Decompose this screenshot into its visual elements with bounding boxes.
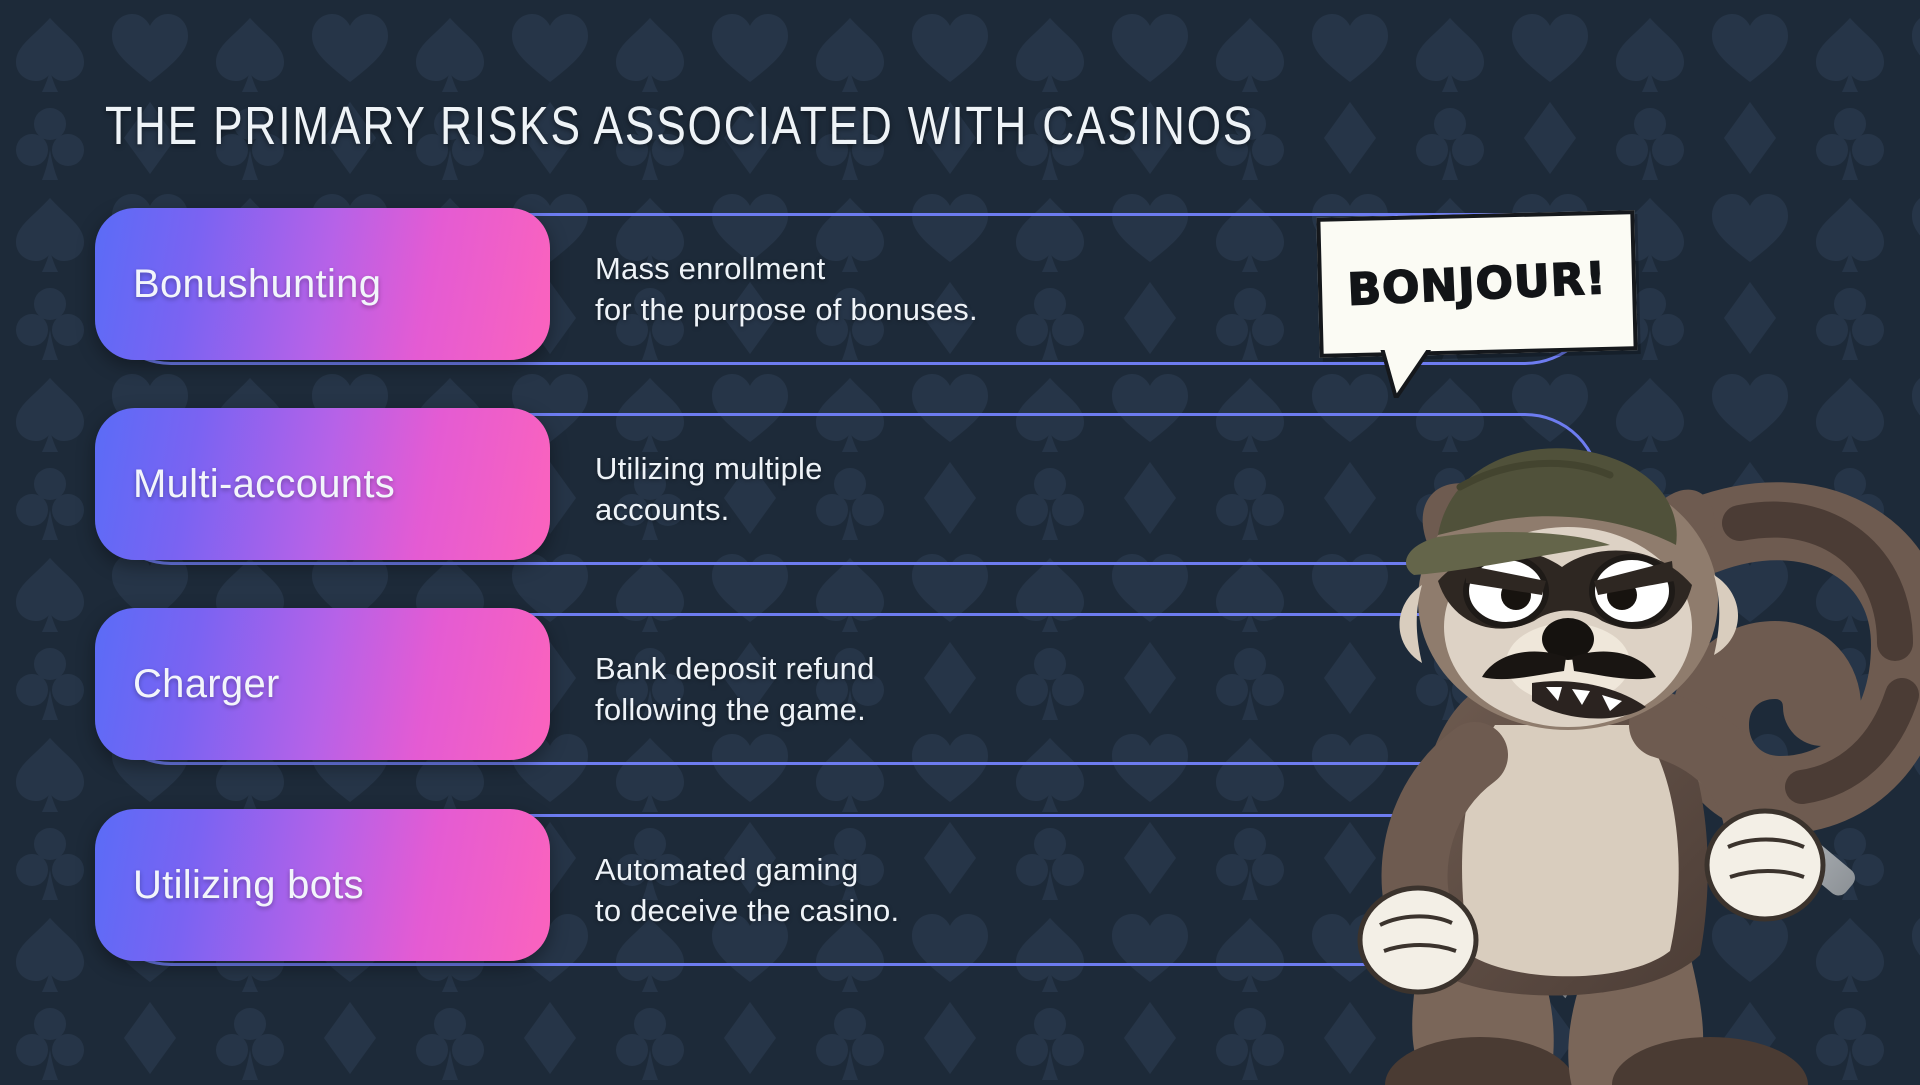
raccoon-mascot-icon <box>1310 395 1920 1085</box>
page-title: THE PRIMARY RISKS ASSOCIATED WITH CASINO… <box>105 95 1254 157</box>
risk-description: Mass enrollment for the purpose of bonus… <box>595 248 978 330</box>
risk-label-pill[interactable]: Bonushunting <box>95 208 550 360</box>
risk-description: Automated gaming to deceive the casino. <box>595 849 899 931</box>
risk-description: Bank deposit refund following the game. <box>595 648 875 730</box>
risk-label-pill[interactable]: Utilizing bots <box>95 809 550 961</box>
risk-label: Charger <box>133 662 280 707</box>
speech-bubble-text: BONJOUR! <box>1315 207 1639 361</box>
risk-description: Utilizing multiple accounts. <box>595 448 823 530</box>
risk-label: Multi-accounts <box>133 462 395 507</box>
risk-label: Bonushunting <box>133 262 381 307</box>
speech-bubble: BONJOUR! <box>1318 214 1636 354</box>
risk-label: Utilizing bots <box>133 863 364 908</box>
risk-label-pill[interactable]: Charger <box>95 608 550 760</box>
risk-label-pill[interactable]: Multi-accounts <box>95 408 550 560</box>
